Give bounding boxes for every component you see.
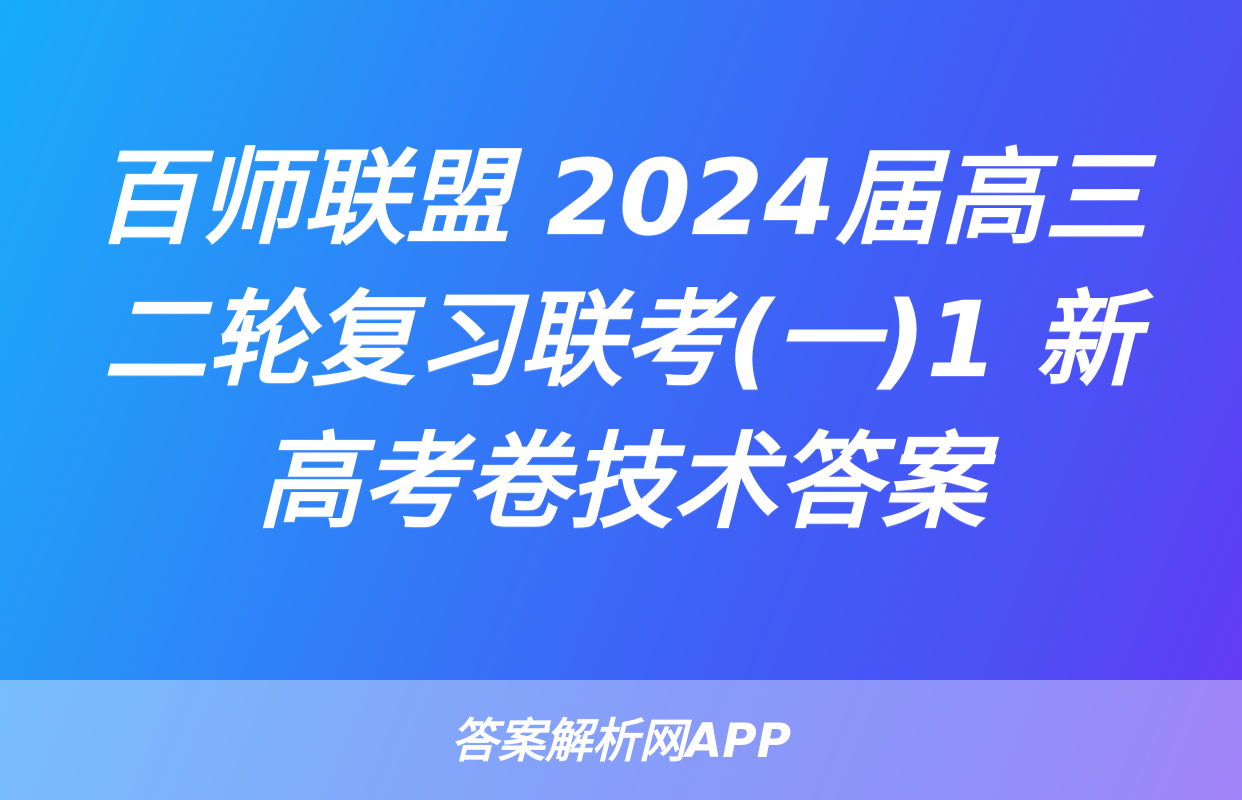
poster-canvas: 百师联盟 2024届高三二轮复习联考(一)1 新高考卷技术答案 答案解析网APP — [0, 0, 1242, 800]
page-title: 百师联盟 2024届高三二轮复习联考(一)1 新高考卷技术答案 — [60, 127, 1182, 553]
watermark-text: 答案解析网APP — [451, 716, 791, 765]
watermark-band: 答案解析网APP — [0, 680, 1242, 800]
hero-section: 百师联盟 2024届高三二轮复习联考(一)1 新高考卷技术答案 — [0, 0, 1242, 680]
